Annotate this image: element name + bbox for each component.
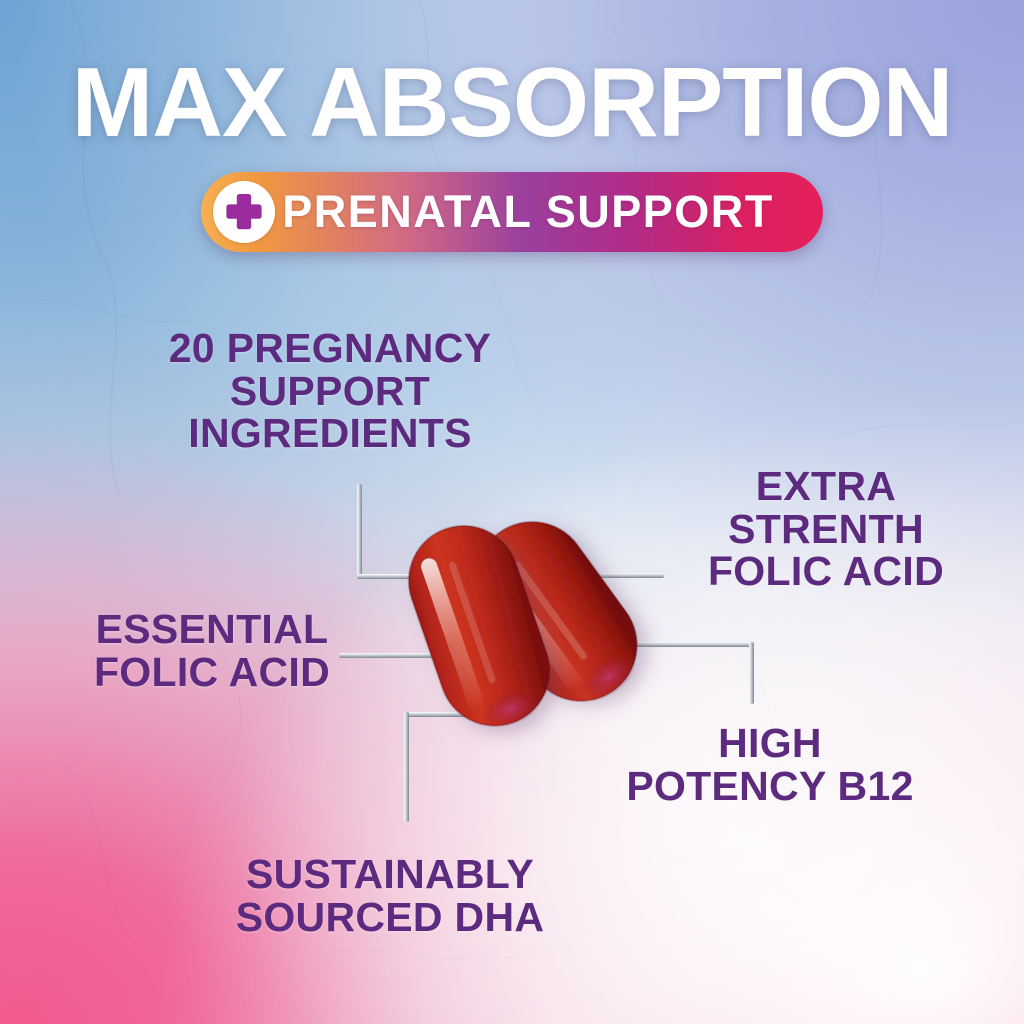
feature-label-ingredients: 20 PREGNANCY SUPPORT INGREDIENTS xyxy=(120,327,540,455)
feature-label-sustainably-sourced-dha: SUSTAINABLY SOURCED DHA xyxy=(180,853,600,938)
prenatal-supplement-infographic: MAX ABSORPTION PRENATAL SUPPORT xyxy=(0,0,1024,1024)
feature-label-essential-folic-acid: ESSENTIAL FOLIC ACID xyxy=(52,608,372,693)
feature-label-high-potency-b12: HIGH POTENCY B12 xyxy=(590,722,950,807)
feature-label-extra-strength-folic-acid: EXTRA STRENTH FOLIC ACID xyxy=(640,465,1012,593)
